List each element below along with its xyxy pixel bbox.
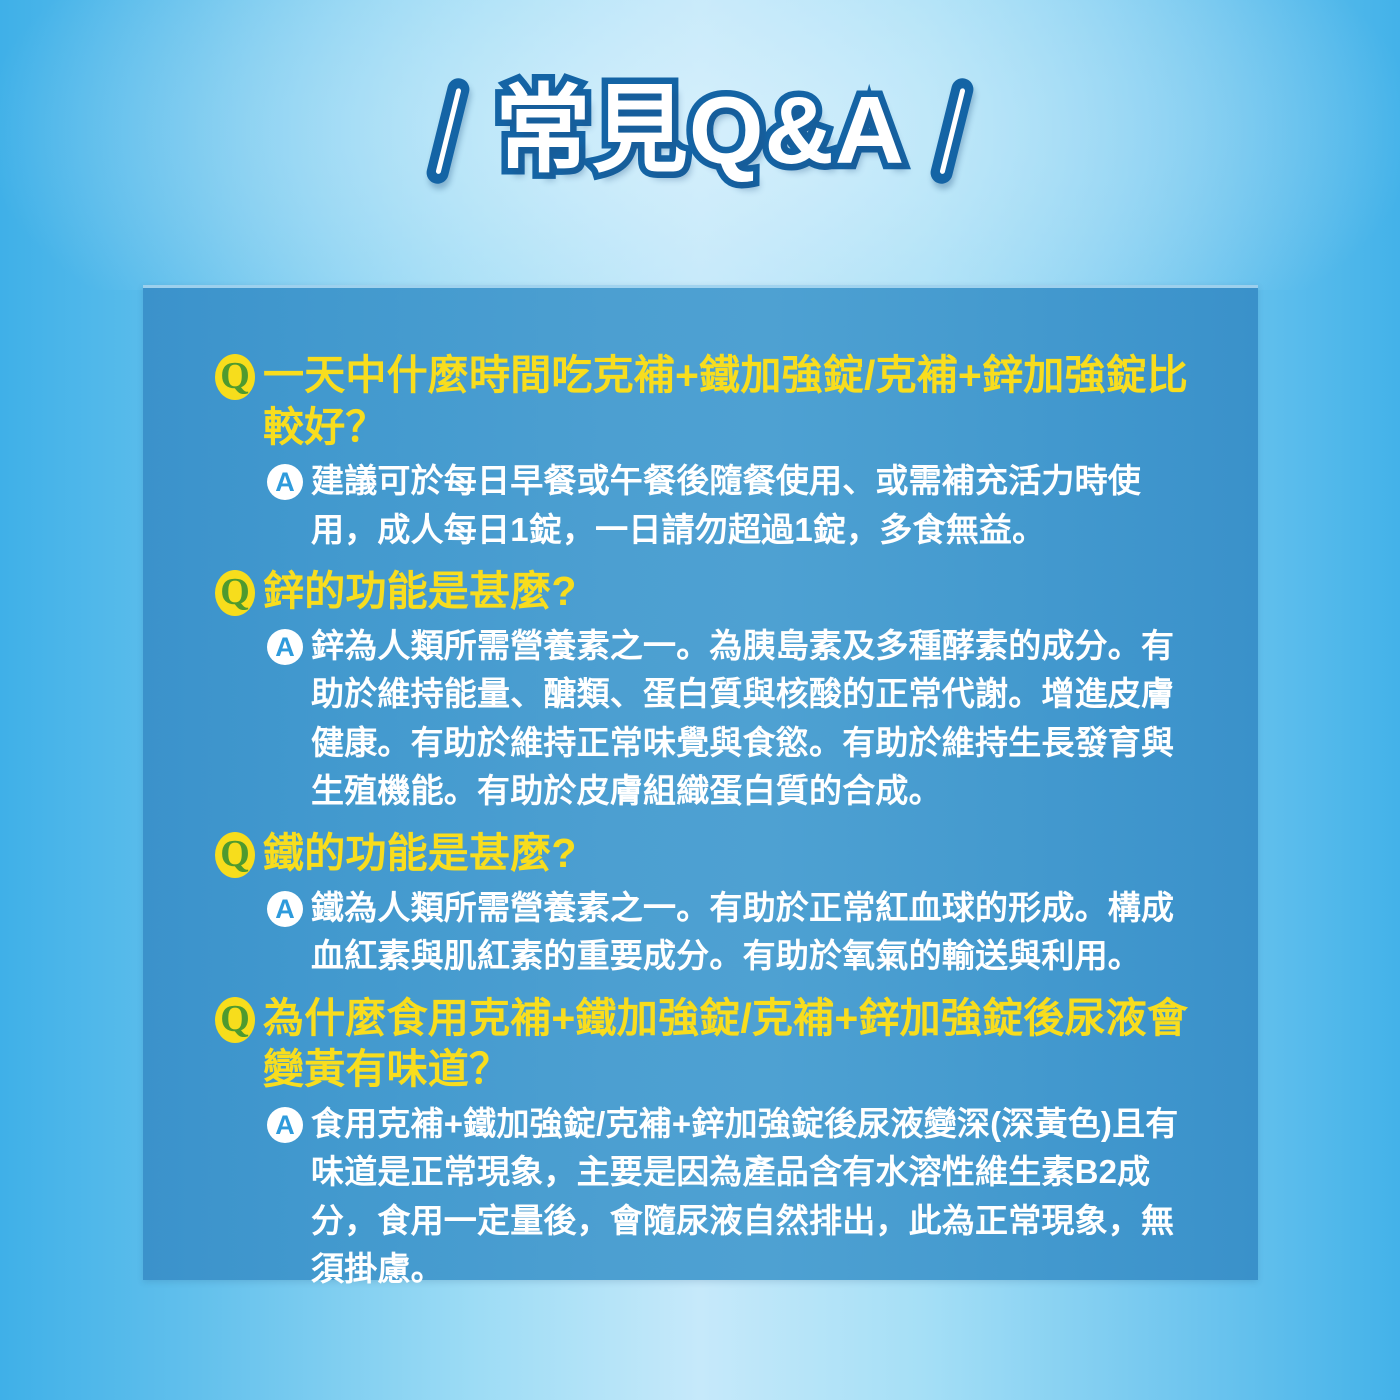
page-title: 常見Q&A	[495, 80, 905, 182]
question-text: 一天中什麼時間吃克補+鐵加強錠/克補+鋅加強錠比較好？	[263, 350, 1205, 453]
question-row: Q 鋅的功能是甚麼?	[215, 566, 1205, 618]
faq-item: Q 為什麼食用克補+鐵加強錠/克補+鋅加強錠後尿液會變黃有味道？ A 食用克補+…	[215, 993, 1205, 1294]
faq-item: Q 鐵的功能是甚麼? A 鐵為人類所需營養素之一。有助於正常紅血球的形成。構成血…	[215, 828, 1205, 981]
question-text: 鐵的功能是甚麼?	[263, 828, 1205, 880]
question-row: Q 鐵的功能是甚麼?	[215, 828, 1205, 880]
slash-decoration-right-icon	[928, 76, 975, 186]
question-text: 鋅的功能是甚麼?	[263, 566, 1205, 618]
question-row: Q 為什麼食用克補+鐵加強錠/克補+鋅加強錠後尿液會變黃有味道？	[215, 993, 1205, 1096]
answer-row: A 建議可於每日早餐或午餐後隨餐使用、或需補充活力時使用，成人每日1錠，一日請勿…	[215, 457, 1205, 554]
question-badge-icon: Q	[215, 832, 255, 878]
faq-list: Q 一天中什麼時間吃克補+鐵加強錠/克補+鋅加強錠比較好？ A 建議可於每日早餐…	[215, 350, 1205, 1294]
answer-badge-icon: A	[267, 1107, 303, 1143]
question-row: Q 一天中什麼時間吃克補+鐵加強錠/克補+鋅加強錠比較好？	[215, 350, 1205, 453]
faq-item: Q 一天中什麼時間吃克補+鐵加強錠/克補+鋅加強錠比較好？ A 建議可於每日早餐…	[215, 350, 1205, 554]
answer-badge-icon: A	[267, 464, 303, 500]
answer-badge-icon: A	[267, 891, 303, 927]
answer-text: 鐵為人類所需營養素之一。有助於正常紅血球的形成。構成血紅素與肌紅素的重要成分。有…	[311, 884, 1205, 981]
answer-badge-icon: A	[267, 629, 303, 665]
page-title-wrap: 常見Q&A	[495, 80, 905, 182]
slash-decoration-left-icon	[424, 76, 471, 186]
faq-panel: Q 一天中什麼時間吃克補+鐵加強錠/克補+鋅加強錠比較好？ A 建議可於每日早餐…	[143, 285, 1258, 1280]
question-text: 為什麼食用克補+鐵加強錠/克補+鋅加強錠後尿液會變黃有味道？	[263, 993, 1205, 1096]
page-header: 常見Q&A	[0, 56, 1400, 206]
answer-text: 鋅為人類所需營養素之一。為胰島素及多種酵素的成分。有助於維持能量、醣類、蛋白質與…	[311, 622, 1205, 816]
question-badge-icon: Q	[215, 997, 255, 1043]
answer-row: A 食用克補+鐵加強錠/克補+鋅加強錠後尿液變深(深黃色)且有味道是正常現象，主…	[215, 1100, 1205, 1294]
answer-row: A 鐵為人類所需營養素之一。有助於正常紅血球的形成。構成血紅素與肌紅素的重要成分…	[215, 884, 1205, 981]
question-badge-icon: Q	[215, 570, 255, 616]
answer-row: A 鋅為人類所需營養素之一。為胰島素及多種酵素的成分。有助於維持能量、醣類、蛋白…	[215, 622, 1205, 816]
answer-text: 建議可於每日早餐或午餐後隨餐使用、或需補充活力時使用，成人每日1錠，一日請勿超過…	[311, 457, 1205, 554]
answer-text: 食用克補+鐵加強錠/克補+鋅加強錠後尿液變深(深黃色)且有味道是正常現象，主要是…	[311, 1100, 1205, 1294]
faq-page: 常見Q&A Q 一天中什麼時間吃克補+鐵加強錠/克補+鋅加強錠比較好？ A 建議…	[0, 0, 1400, 1400]
faq-item: Q 鋅的功能是甚麼? A 鋅為人類所需營養素之一。為胰島素及多種酵素的成分。有助…	[215, 566, 1205, 816]
question-badge-icon: Q	[215, 354, 255, 400]
